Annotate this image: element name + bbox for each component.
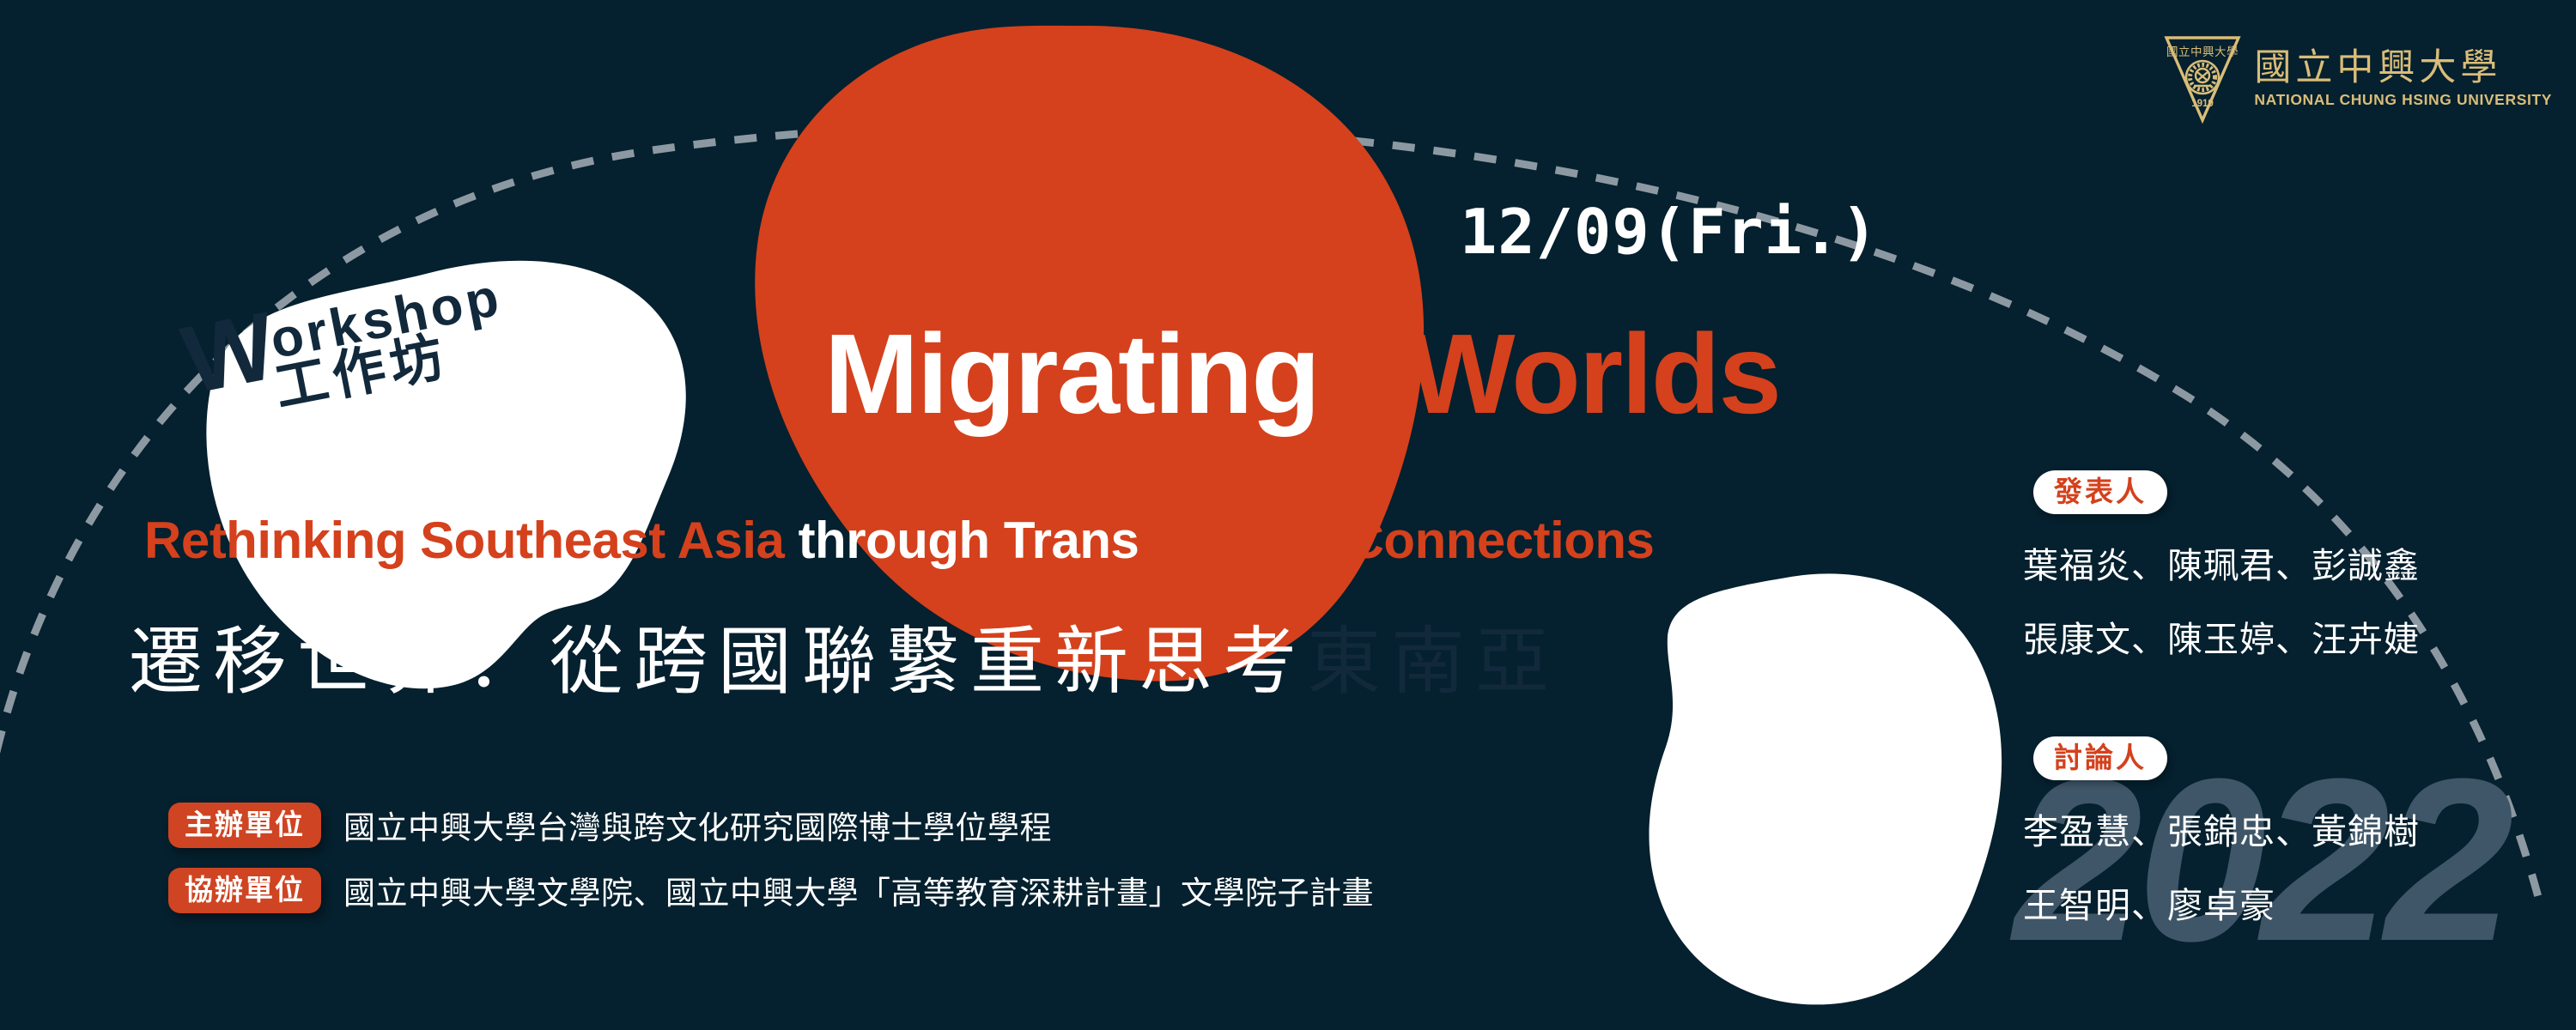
title-chinese-part-1: 遷移世界：從跨國聯繫重新思考 [129, 619, 1307, 705]
university-emblem-icon: 國立中興大學 1919 [2163, 33, 2242, 125]
discussants-badge-wrap: 討論人 [2033, 736, 2420, 780]
svg-text:1919: 1919 [2192, 99, 2215, 109]
organizer-text-host: 國立中興大學台灣與跨文化研究國際博士學位學程 [343, 802, 1052, 848]
organizer-row: 主辦單位 國立中興大學台灣與跨文化研究國際博士學位學程 [168, 802, 1374, 848]
title-chinese-part-2: 東南亞 [1307, 619, 1559, 705]
logo-text-group: 國立中興大學 NATIONAL CHUNG HSING UNIVERSITY [2254, 49, 2552, 108]
logo-chinese-name: 國立中興大學 [2254, 49, 2501, 88]
logo-english-name: NATIONAL CHUNG HSING UNIVERSITY [2254, 91, 2552, 109]
workshop-initial-letter: W [175, 298, 281, 409]
speakers-section: 發表人 葉福炎、陳珮君、彭誠鑫 張康文、陳玉婷、汪卉婕 [2023, 470, 2420, 662]
subtitle-run-1: Rethinking Southeast Asia [144, 512, 799, 569]
speakers-badge: 發表人 [2033, 470, 2167, 514]
discussants-line: 王智明、廖卓豪 [2023, 876, 2420, 928]
white-blob-right [1649, 573, 2002, 1004]
speakers-badge-wrap: 發表人 [2033, 470, 2420, 514]
title-word-migrating: Migrating [824, 311, 1319, 437]
event-title-chinese: 遷移世界：從跨國聯繫重新思考東南亞 [129, 616, 1559, 709]
svg-text:國立中興大學: 國立中興大學 [2166, 45, 2239, 59]
page-title: Migrating Worlds [824, 318, 1780, 431]
organizer-row: 協辦單位 國立中興大學文學院、國立中興大學「高等教育深耕計畫」文學院子計畫 [168, 867, 1374, 913]
discussants-line: 李盈慧、張錦忠、黃錦樹 [2023, 803, 2420, 854]
event-subtitle-english: Rethinking Southeast Asia through Transn… [144, 515, 1654, 566]
organizer-badge-host: 主辦單位 [168, 803, 321, 848]
organizer-text-coorganizer: 國立中興大學文學院、國立中興大學「高等教育深耕計畫」文學院子計畫 [343, 867, 1374, 913]
university-logo: 國立中興大學 1919 國立中興大學 NATIONAL CHUNG HSING … [2163, 33, 2552, 125]
speakers-line: 葉福炎、陳珮君、彭誠鑫 [2023, 536, 2420, 588]
organizers-section: 主辦單位 國立中興大學台灣與跨文化研究國際博士學位學程 協辦單位 國立中興大學文… [168, 802, 1374, 932]
discussants-section: 討論人 李盈慧、張錦忠、黃錦樹 王智明、廖卓豪 [2023, 736, 2420, 928]
subtitle-run-2: through Trans [799, 512, 1139, 569]
poster-canvas: 2022 國立中興大學 1919 國立中興大學 NATIONAL CHUNG H… [0, 0, 2576, 1030]
title-word-worlds: Worlds [1408, 311, 1780, 437]
discussants-badge: 討論人 [2033, 736, 2167, 780]
speakers-line: 張康文、陳玉婷、汪卉婕 [2023, 610, 2420, 662]
organizer-badge-coorganizer: 協辦單位 [168, 868, 321, 913]
event-date: 12/09(Fri.) [1460, 196, 1879, 268]
subtitle-run-3: national Connections [1139, 512, 1654, 569]
